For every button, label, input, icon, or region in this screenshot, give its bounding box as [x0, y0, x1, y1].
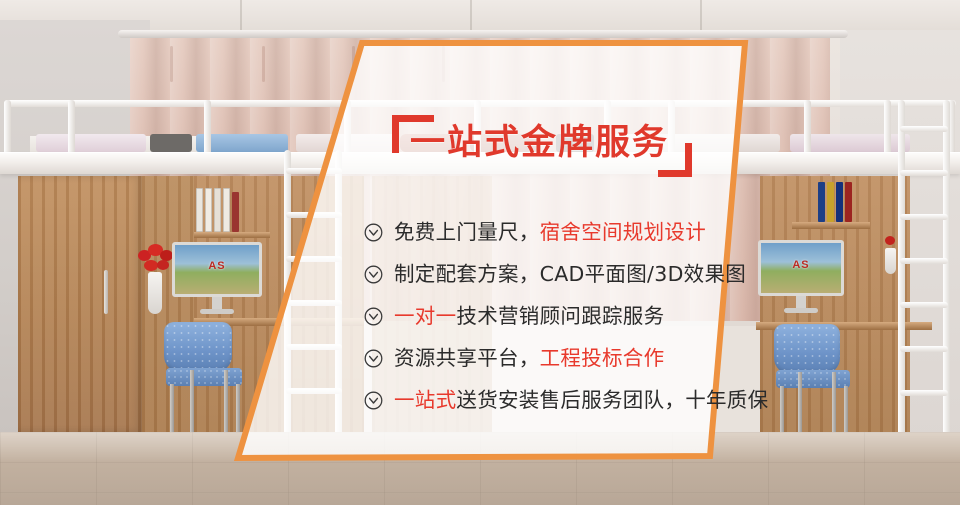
plain-text: 资源共享平台， [394, 346, 540, 370]
ladder-step [286, 168, 342, 174]
service-list-item-label: 一对一技术营销顾问跟踪服务 [394, 297, 664, 335]
flower [885, 236, 895, 245]
check-circle-icon [364, 223, 383, 242]
promo-content: 一站式金牌服务 免费上门量尺，宿舍空间规划设计制定配套方案，CAD平面图/3D效… [362, 43, 754, 463]
vase [885, 248, 896, 274]
book [214, 188, 221, 232]
service-list-item-label: 免费上门量尺，宿舍空间规划设计 [394, 213, 706, 251]
service-list-item-label: 一站式送货安装售后服务团队，十年质保 [394, 381, 768, 419]
ladder-step [900, 170, 948, 176]
chair-left-seat [166, 368, 242, 386]
book [232, 192, 239, 232]
plain-text: 送货安装售后服务团队，十年质保 [456, 388, 768, 412]
monitor-logo: AS [792, 259, 809, 271]
chair-leg [780, 386, 784, 432]
service-list: 免费上门量尺，宿舍空间规划设计制定配套方案，CAD平面图/3D效果图一对一技术营… [364, 213, 754, 423]
bunk-ladder-left [282, 150, 346, 450]
plain-text: 制定配套方案，CAD平面图/3D效果图 [394, 262, 746, 286]
page-title: 一站式金牌服务 [410, 119, 669, 167]
ladder-step [900, 346, 948, 352]
monitor-stand [212, 297, 222, 309]
chair-leg [832, 372, 836, 432]
ceiling-seam [240, 0, 242, 34]
chair-leg [224, 370, 228, 432]
monitor-logo: AS [208, 260, 225, 272]
book [196, 188, 203, 232]
service-list-item-label: 制定配套方案，CAD平面图/3D效果图 [394, 255, 746, 293]
book [827, 182, 834, 222]
wardrobe-handle [104, 270, 108, 314]
ladder-step [900, 126, 948, 132]
shelf-right [792, 222, 870, 229]
check-circle-icon [364, 265, 383, 284]
bunk-ladder-right [896, 100, 952, 450]
ladder-rail [898, 100, 905, 450]
highlight-text: 一站式 [394, 388, 456, 412]
service-list-item-label: 资源共享平台，工程投标合作 [394, 339, 664, 377]
ladder-step [900, 302, 948, 308]
monitor-base [784, 308, 818, 313]
wardrobe-left [18, 176, 142, 432]
ladder-step [900, 390, 948, 396]
monitor-right: AS [758, 240, 844, 296]
service-list-item: 一站式送货安装售后服务团队，十年质保 [364, 381, 754, 419]
ladder-step [900, 214, 948, 220]
flower [144, 260, 158, 271]
book [223, 188, 230, 232]
ladder-step [286, 212, 342, 218]
check-circle-icon [364, 349, 383, 368]
plain-text: 技术营销顾问跟踪服务 [456, 304, 664, 328]
chair-leg [844, 386, 848, 432]
rail-post [204, 100, 211, 160]
ladder-rail [943, 100, 950, 450]
curtain-fold [170, 46, 173, 82]
curtain-fold [352, 46, 355, 82]
ladder-step [286, 300, 342, 306]
book [836, 182, 843, 222]
service-list-item: 一对一技术营销顾问跟踪服务 [364, 297, 754, 335]
book [205, 188, 212, 232]
rail-post [884, 100, 891, 160]
service-list-item: 资源共享平台，工程投标合作 [364, 339, 754, 377]
chair-leg [798, 372, 802, 432]
plain-text: 免费上门量尺， [394, 220, 540, 244]
ladder-step [286, 388, 342, 394]
chair-left-back [164, 322, 232, 372]
ceiling-seam [700, 0, 702, 34]
book [818, 182, 825, 222]
service-list-item: 制定配套方案，CAD平面图/3D效果图 [364, 255, 754, 293]
curtain-rod [118, 30, 848, 38]
chair-right-back [774, 324, 840, 374]
ladder-step [900, 258, 948, 264]
chair-right-seat [776, 370, 850, 388]
rail-post [4, 100, 11, 160]
rail-post [68, 100, 75, 160]
book [845, 182, 852, 222]
ceiling-seam [470, 0, 472, 34]
ladder-step [286, 256, 342, 262]
vase [148, 272, 162, 314]
ladder-step [286, 344, 342, 350]
monitor-base [200, 309, 234, 314]
chair-leg [170, 384, 174, 432]
rail-post [804, 100, 811, 160]
flower [157, 260, 169, 270]
check-circle-icon [364, 307, 383, 326]
promo-banner: AS [0, 0, 960, 505]
service-list-item: 免费上门量尺，宿舍空间规划设计 [364, 213, 754, 251]
curtain-fold [262, 46, 265, 82]
monitor-stand [796, 296, 806, 308]
title-block: 一站式金牌服务 [392, 115, 692, 177]
highlight-text: 工程投标合作 [540, 346, 665, 370]
monitor-left: AS [172, 242, 262, 297]
highlight-text: 一对一 [394, 304, 456, 328]
check-circle-icon [364, 391, 383, 410]
chair-leg [190, 370, 194, 432]
highlight-text: 宿舍空间规划设计 [540, 220, 706, 244]
chair-leg [236, 384, 240, 432]
shelf-left [194, 232, 270, 238]
